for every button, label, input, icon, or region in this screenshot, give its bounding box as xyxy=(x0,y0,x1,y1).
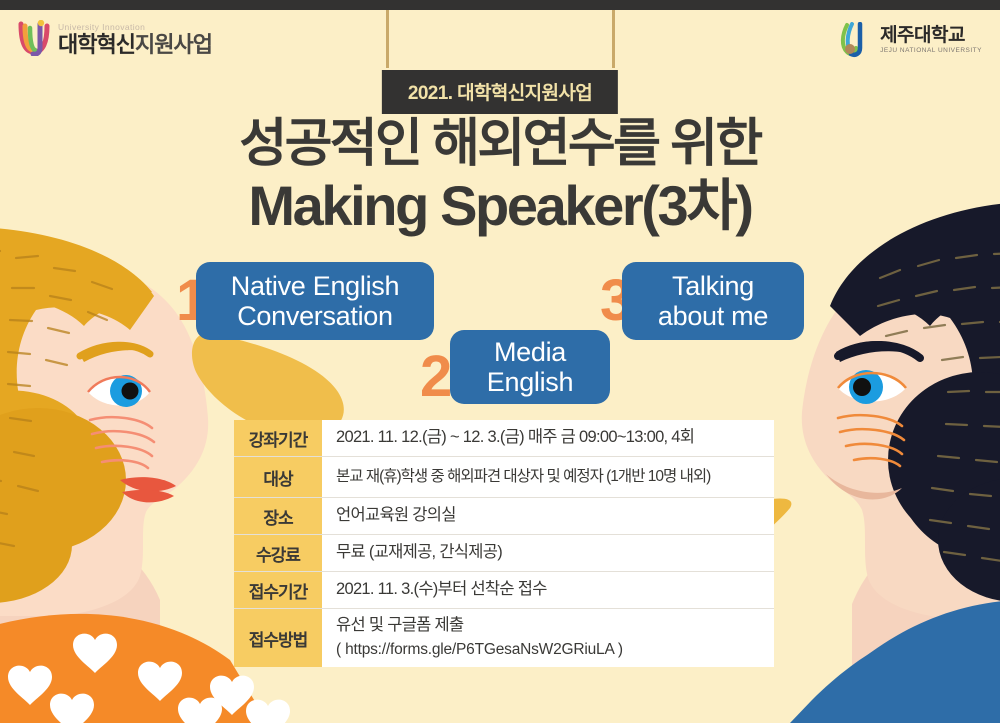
poster-canvas: University Innovation 대학혁신지원사업 제주대학교 JEJ… xyxy=(0,0,1000,723)
table-label-target: 대상 xyxy=(234,457,322,497)
university-innovation-logo: University Innovation 대학혁신지원사업 xyxy=(18,20,212,56)
table-label-location: 장소 xyxy=(234,498,322,534)
table-value-registration-period: 2021. 11. 3.(수)부터 선착순 접수 xyxy=(322,572,774,608)
course-1-line2: Conversation xyxy=(237,301,393,331)
table-row: 장소 언어교육원 강의실 xyxy=(234,498,774,535)
table-row: 수강료 무료 (교재제공, 간식제공) xyxy=(234,535,774,572)
table-row: 강좌기간 2021. 11. 12.(금) ~ 12. 3.(금) 매주 금 0… xyxy=(234,420,774,457)
logo-right-korean: 제주대학교 xyxy=(880,26,982,45)
table-row: 대상 본교 재(휴)학생 중 해외파견 대상자 및 예정자 (1개반 10명 내… xyxy=(234,457,774,498)
table-label-registration-period: 접수기간 xyxy=(234,572,322,608)
table-label-fee: 수강료 xyxy=(234,535,322,571)
logo-right-english: JEJU NATIONAL UNIVERSITY xyxy=(880,48,982,55)
logo-left-english: University Innovation xyxy=(58,23,212,32)
table-value-fee: 무료 (교재제공, 간식제공) xyxy=(322,535,774,571)
program-info-table: 강좌기간 2021. 11. 12.(금) ~ 12. 3.(금) 매주 금 0… xyxy=(234,420,774,667)
table-value-registration-method: 유선 및 구글폼 제출 ( https://forms.gle/P6TGesaN… xyxy=(322,609,774,667)
course-3-line2: about me xyxy=(658,301,768,331)
top-dark-bar xyxy=(0,0,1000,10)
program-eyebrow-badge: 2021. 대학혁신지원사업 xyxy=(382,70,618,114)
university-innovation-mark xyxy=(18,20,52,56)
gold-divider-line-right xyxy=(612,10,615,68)
page-title-line1: 성공적인 해외연수를 위한 xyxy=(239,118,760,170)
course-2-line2: English xyxy=(487,367,573,397)
table-label-period: 강좌기간 xyxy=(234,420,322,456)
table-row: 접수기간 2021. 11. 3.(수)부터 선착순 접수 xyxy=(234,572,774,609)
course-1-line1: Native English xyxy=(231,271,399,301)
registration-form-url[interactable]: ( https://forms.gle/P6TGesaNsW2GRiuLA ) xyxy=(336,639,772,661)
gold-divider-line-left xyxy=(386,10,389,68)
course-2-line1: Media xyxy=(494,337,566,367)
course-bubble-talking-about-me: Talking about me xyxy=(622,262,804,340)
registration-method-text: 유선 및 구글폼 제출 xyxy=(336,614,772,638)
logo-left-korean: 대학혁신지원사업 xyxy=(58,34,212,56)
table-value-location: 언어교육원 강의실 xyxy=(322,498,774,534)
page-title-line2: Making Speaker(3차) xyxy=(248,178,751,234)
jeju-national-university-logo: 제주대학교 JEJU NATIONAL UNIVERSITY xyxy=(838,22,982,58)
table-value-target: 본교 재(휴)학생 중 해외파견 대상자 및 예정자 (1개반 10명 내외) xyxy=(322,457,774,497)
course-number-2: 2 xyxy=(420,348,452,406)
table-value-period: 2021. 11. 12.(금) ~ 12. 3.(금) 매주 금 09:00~… xyxy=(322,420,774,456)
course-bubble-media-english: Media English xyxy=(450,330,610,404)
course-3-line1: Talking xyxy=(672,271,754,301)
course-bubble-native-english-conversation: Native English Conversation xyxy=(196,262,434,340)
table-label-registration-method: 접수방법 xyxy=(234,609,322,667)
jeju-university-mark xyxy=(838,22,872,58)
table-row: 접수방법 유선 및 구글폼 제출 ( https://forms.gle/P6T… xyxy=(234,609,774,667)
